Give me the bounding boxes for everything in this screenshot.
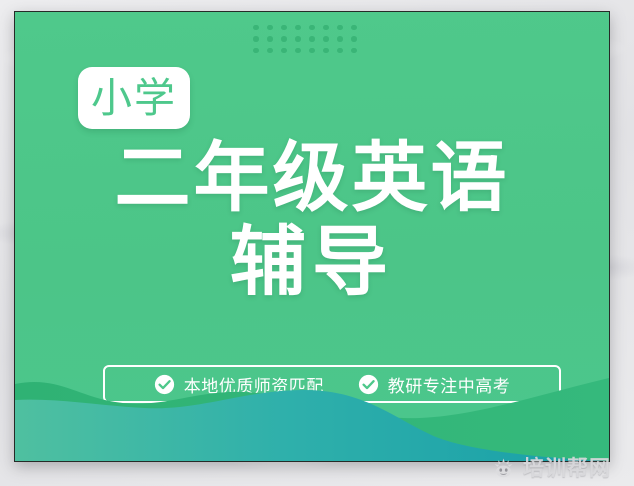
feature-bar: 本地优质师资匹配 教研专注中高考	[103, 365, 561, 403]
dot	[281, 48, 287, 54]
dot	[253, 25, 259, 31]
dot	[267, 48, 273, 54]
headline-line-2: 辅导	[15, 220, 609, 304]
dot	[267, 25, 273, 31]
dot	[295, 25, 301, 31]
dot	[337, 48, 343, 54]
dot	[267, 36, 273, 42]
dot	[281, 25, 287, 31]
dot	[281, 36, 287, 42]
feature-item-1: 本地优质师资匹配	[154, 372, 324, 397]
check-circle-icon	[154, 374, 175, 395]
dot	[337, 25, 343, 31]
site-watermark: 培训帮网	[491, 452, 611, 482]
dot	[309, 36, 315, 42]
level-badge-label: 小学	[91, 78, 177, 119]
check-circle-icon	[358, 374, 379, 395]
watermark-text: 培训帮网	[523, 452, 611, 482]
feature-item-2: 教研专注中高考	[358, 372, 511, 397]
feature-label: 教研专注中高考	[388, 372, 511, 397]
dot	[351, 36, 357, 42]
smiley-sun-face-icon	[491, 455, 516, 480]
dot	[253, 48, 259, 54]
dot	[309, 48, 315, 54]
course-poster-card: 小学 二年级英语 辅导 本地优质师资匹配 教研专注中高考	[14, 11, 610, 462]
dot	[351, 48, 357, 54]
dot-grid-ornament	[249, 22, 361, 56]
dot	[253, 36, 259, 42]
dot	[323, 25, 329, 31]
dot	[351, 25, 357, 31]
headline-line-1: 二年级英语	[15, 136, 609, 220]
dot	[323, 48, 329, 54]
feature-label: 本地优质师资匹配	[184, 372, 324, 397]
dot	[309, 25, 315, 31]
level-badge: 小学	[78, 67, 190, 129]
dot	[295, 48, 301, 54]
dot	[295, 36, 301, 42]
dot	[337, 36, 343, 42]
dot	[323, 36, 329, 42]
page-title: 二年级英语 辅导	[15, 136, 609, 304]
